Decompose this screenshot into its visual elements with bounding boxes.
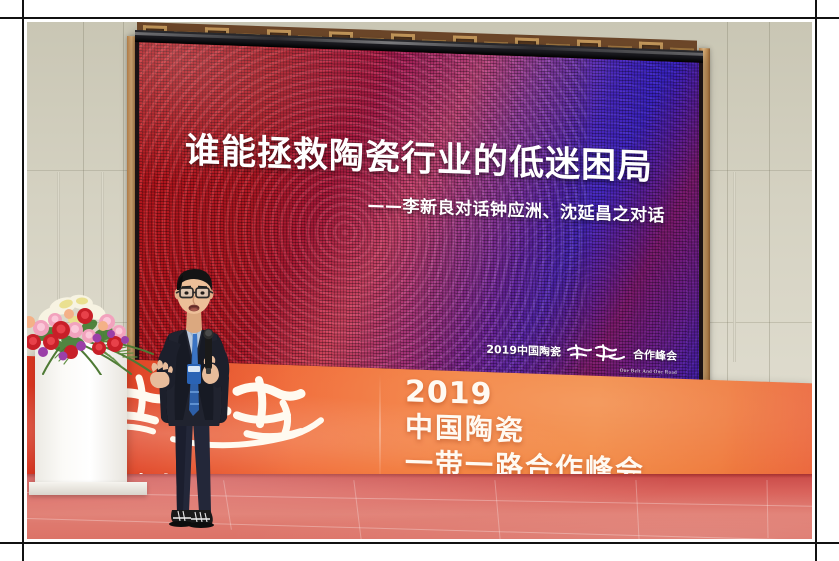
wall-metal-strip bbox=[733, 172, 736, 362]
belt-road-calligraphy-icon bbox=[566, 341, 628, 365]
banner-text-block: 2019 中国陶瓷 一带一路合作峰会 bbox=[405, 377, 645, 489]
floral-arrangement bbox=[27, 290, 159, 375]
lockup-prefix: 2019中国陶瓷 bbox=[486, 341, 561, 360]
photo-frame: 谁能拯救陶瓷行业的低迷困局 ——李新良对话钟应洲、沈延昌之对话 2019中国陶瓷 bbox=[0, 0, 839, 561]
conference-photo: 谁能拯救陶瓷行业的低迷困局 ——李新良对话钟应洲、沈延昌之对话 2019中国陶瓷 bbox=[27, 22, 812, 539]
speaker-figure bbox=[147, 260, 243, 538]
lockup-suffix: 合作峰会 bbox=[633, 346, 677, 364]
banner-line-two: 中国陶瓷 bbox=[405, 410, 645, 453]
pedestal-base bbox=[29, 482, 147, 495]
banner-divider bbox=[379, 374, 381, 486]
